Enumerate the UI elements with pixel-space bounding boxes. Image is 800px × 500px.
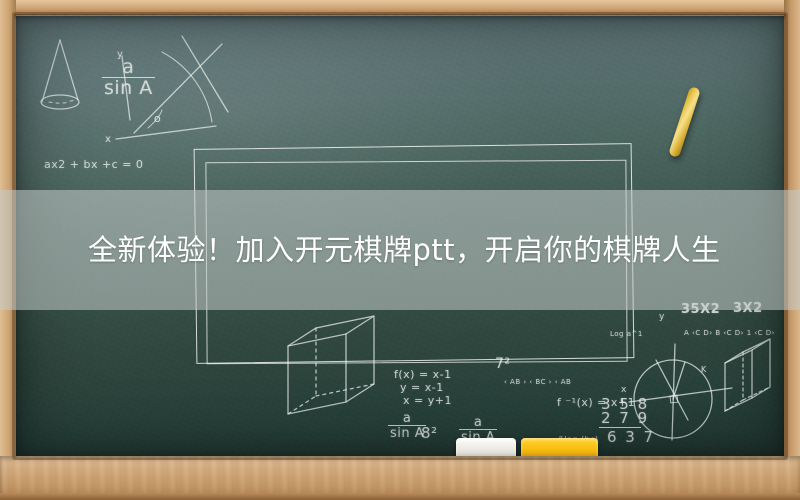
ledge-front-edge: [0, 493, 800, 500]
frame-top-bevel: [0, 0, 800, 15]
caption-text: 全新体验！加入开元棋牌ptt，开启你的棋牌人生: [88, 232, 721, 268]
chalk-ledge: [0, 456, 800, 500]
caption-band: 全新体验！加入开元棋牌ptt，开启你的棋牌人生: [0, 190, 800, 310]
chalkboard-banner: asin A ax2 + bx +c = 0 y x o f(x) = x-1 …: [0, 0, 800, 500]
